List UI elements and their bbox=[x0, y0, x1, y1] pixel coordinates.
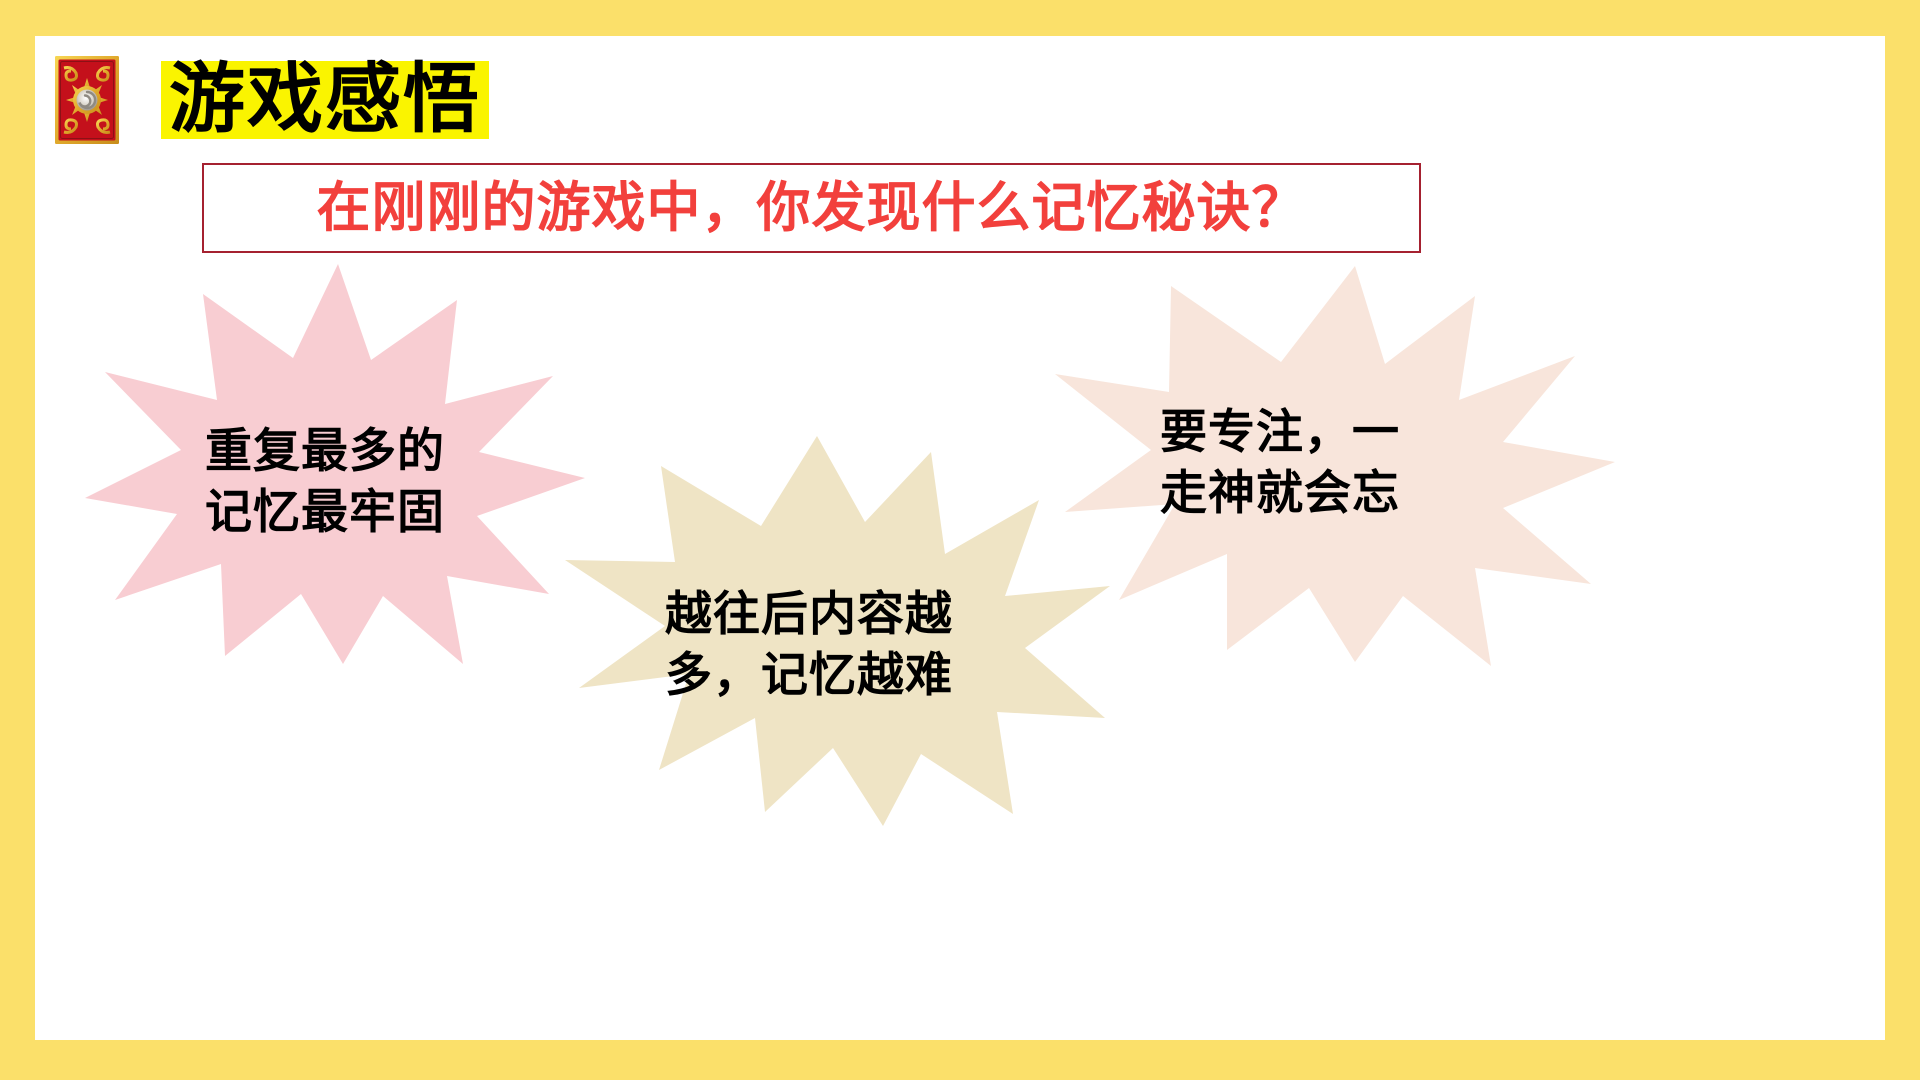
question-text: 在刚刚的游戏中，你发现什么记忆秘诀？ bbox=[317, 181, 1307, 235]
slide-root: 游戏感悟 在刚刚的游戏中，你发现什么记忆秘诀？ 重复最多的 记忆最牢固 越往后内… bbox=[0, 0, 1920, 1080]
slide-header: 游戏感悟 bbox=[55, 52, 489, 148]
hearthstone-card-icon bbox=[55, 56, 119, 144]
question-box: 在刚刚的游戏中，你发现什么记忆秘诀？ bbox=[202, 163, 1421, 253]
burst-label-left: 重复最多的 记忆最牢固 bbox=[205, 421, 445, 543]
page-title: 游戏感悟 bbox=[169, 61, 481, 137]
slide-title-badge: 游戏感悟 bbox=[161, 61, 489, 139]
slide-canvas: 游戏感悟 在刚刚的游戏中，你发现什么记忆秘诀？ 重复最多的 记忆最牢固 越往后内… bbox=[35, 36, 1885, 1040]
burst-label-middle: 越往后内容越 多，记忆越难 bbox=[665, 584, 953, 706]
burst-label-right: 要专注，一 走神就会忘 bbox=[1160, 402, 1400, 524]
